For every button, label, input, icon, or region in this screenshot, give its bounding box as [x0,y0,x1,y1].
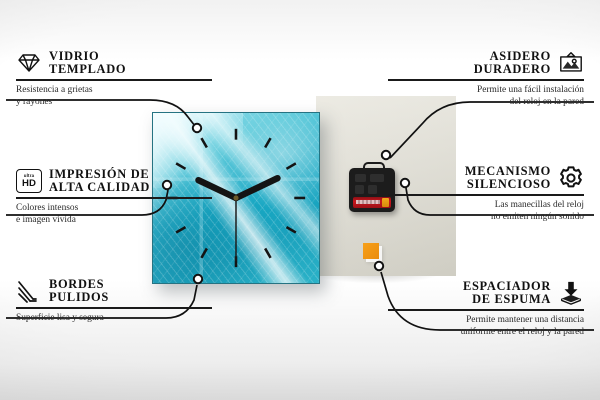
feature-title-line2: TEMPLADO [49,63,126,76]
diamond-icon [16,50,42,76]
feature-rule [388,194,584,196]
hanging-picture-frame-icon [558,50,584,76]
feature-heading: ultra HD IMPRESIÓN DE ALTA CALIDAD [16,168,212,194]
hd-badge-hd-text: HD [22,179,36,189]
gear-icon [558,165,584,191]
feature-title-line2: DURADERO [474,63,551,76]
feature-bordes-pulidos: BORDES PULIDOS Superficie lisa y segura [16,278,212,324]
anchor-dot-asidero [382,151,390,159]
infographic-canvas: VIDRIO TEMPLADO Resistencia a grietas y … [0,0,600,400]
feature-description: Resistencia a grietas y rayones [16,84,212,108]
hd-badge-box: ultra HD [16,169,42,193]
feature-title-line2: PULIDOS [49,291,109,304]
feature-rule [16,307,212,309]
feature-impresion-alta-calidad: ultra HD IMPRESIÓN DE ALTA CALIDAD Color… [16,168,212,226]
feature-espaciador-de-espuma: ESPACIADOR DE ESPUMA Permite mantener un… [388,280,584,338]
feature-titles: BORDES PULIDOS [49,278,109,304]
feature-rule [16,197,212,199]
down-arrow-pad-icon [558,280,584,306]
anchor-dot-espaciador [375,262,383,270]
feature-vidrio-templado: VIDRIO TEMPLADO Resistencia a grietas y … [16,50,212,108]
feature-heading: MECANISMO SILENCIOSO [388,165,584,191]
feature-heading: ESPACIADOR DE ESPUMA [388,280,584,306]
feature-title-line2: ALTA CALIDAD [49,181,150,194]
feature-description: Colores intensos e imagen vívida [16,202,212,226]
feature-description: Permite una fácil instalación del reloj … [388,84,584,108]
feature-titles: MECANISMO SILENCIOSO [465,165,551,191]
feature-heading: ASIDERO DURADERO [388,50,584,76]
feature-heading: VIDRIO TEMPLADO [16,50,212,76]
feature-rule [16,79,212,81]
feature-titles: ESPACIADOR DE ESPUMA [463,280,551,306]
connector-asidero [390,102,594,158]
feature-asidero-duradero: ASIDERO DURADERO Permite una fácil insta… [388,50,584,108]
feature-description: Superficie lisa y segura [16,312,212,324]
feature-mecanismo-silencioso: MECANISMO SILENCIOSO Las manecillas del … [388,165,584,223]
feature-title-line2: SILENCIOSO [465,178,551,191]
feature-title-line2: DE ESPUMA [463,293,551,306]
feature-titles: VIDRIO TEMPLADO [49,50,126,76]
anchor-dot-vidrio [193,124,201,132]
feature-titles: IMPRESIÓN DE ALTA CALIDAD [49,168,150,194]
feature-rule [388,79,584,81]
feature-heading: BORDES PULIDOS [16,278,212,304]
feature-description: Las manecillas del reloj no emiten ningú… [388,199,584,223]
ultra-hd-badge-icon: ultra HD [16,168,42,194]
feature-titles: ASIDERO DURADERO [474,50,551,76]
feature-description: Permite mantener una distancia uniforme … [388,314,584,338]
feature-rule [388,309,584,311]
diagonal-lines-icon [16,278,42,304]
